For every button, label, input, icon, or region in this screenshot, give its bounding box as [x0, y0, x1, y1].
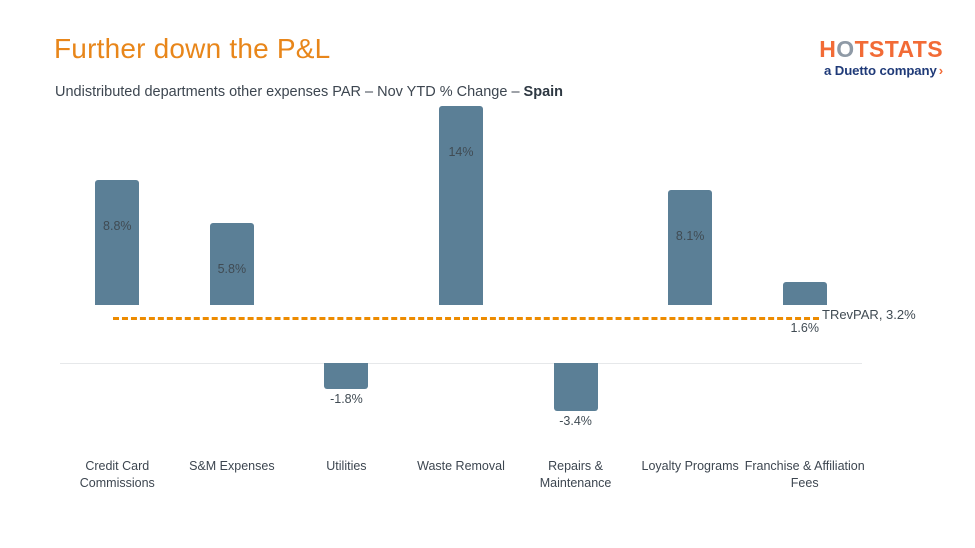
bar-chart: 8.8%Credit Card Commissions5.8%S&M Expen…	[0, 0, 975, 548]
bar-group: 5.8%S&M Expenses	[175, 130, 289, 490]
chart-bar[interactable]	[783, 282, 827, 305]
bar-value-label: -1.8%	[330, 392, 363, 406]
bar-group: 8.1%Loyalty Programs	[633, 130, 747, 490]
category-label: Franchise & Affiliation Fees	[745, 458, 865, 492]
category-label: Repairs & Maintenance	[516, 458, 636, 492]
trevpar-reference-label: TRevPAR, 3.2%	[822, 307, 916, 322]
category-label: Loyalty Programs	[630, 458, 750, 475]
chart-bar[interactable]	[439, 106, 483, 305]
bar-group: -1.8%Utilities	[289, 130, 403, 490]
category-label: Credit Card Commissions	[57, 458, 177, 492]
chart-bar[interactable]	[554, 363, 598, 411]
bar-value-label: 8.8%	[103, 219, 132, 233]
chart-bar[interactable]	[95, 180, 139, 305]
category-label: S&M Expenses	[172, 458, 292, 475]
bar-value-label: 8.1%	[676, 229, 705, 243]
chart-bar[interactable]	[324, 363, 368, 389]
bar-group: 14%Waste Removal	[404, 130, 518, 490]
category-label: Utilities	[286, 458, 406, 475]
bar-value-label: 14%	[448, 145, 473, 159]
bar-value-label: 1.6%	[790, 321, 819, 335]
bar-value-label: 5.8%	[218, 262, 247, 276]
bar-group: 8.8%Credit Card Commissions	[60, 130, 174, 490]
category-label: Waste Removal	[401, 458, 521, 475]
bar-value-label: -3.4%	[559, 414, 592, 428]
trevpar-reference-line	[113, 317, 819, 320]
bar-group: -3.4%Repairs & Maintenance	[519, 130, 633, 490]
chart-bar[interactable]	[668, 190, 712, 305]
